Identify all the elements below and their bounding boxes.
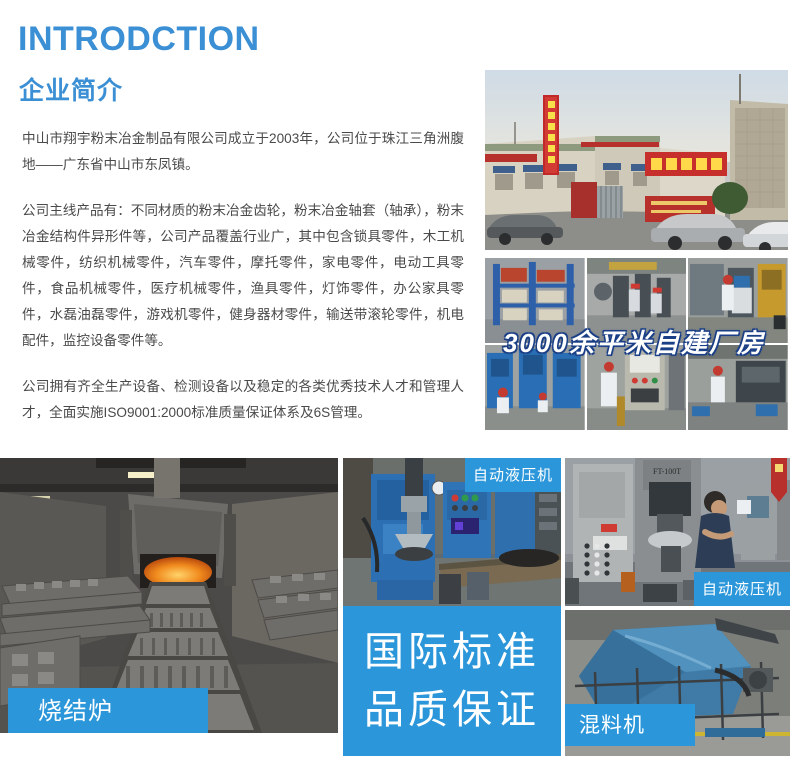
- photo-mixer: 混料机: [565, 610, 790, 756]
- sintering-furnace-tag: 烧结炉: [8, 688, 208, 733]
- page-title-chinese: 企业简介: [19, 75, 123, 107]
- workshop-collage-overlay-text: 3000余平米自建厂房: [503, 326, 765, 360]
- photo-hydraulic-press-left: 自动液压机: [343, 458, 561, 606]
- hydraulic-press-left-tag: 自动液压机: [465, 458, 561, 492]
- photo-hydraulic-press-right: FT-100T 自动液压机: [565, 458, 790, 606]
- quality-slogan-panel: 国际标准 品质保证: [343, 606, 561, 756]
- hydraulic-press-right-tag: 自动液压机: [694, 572, 790, 606]
- slogan-line-2: 品质保证: [364, 681, 540, 739]
- photo-sintering-furnace: 烧结炉: [0, 458, 338, 733]
- page-title-english: INTRODCTION: [18, 18, 260, 60]
- mixer-tag: 混料机: [565, 704, 695, 746]
- photo-workshop-collage: 3000余平米自建厂房: [485, 258, 788, 430]
- intro-paragraph-3: 公司拥有齐全生产设备、检测设备以及稳定的各类优秀技术人才和管理人才，全面实施IS…: [22, 374, 464, 426]
- intro-paragraph-2: 公司主线产品有：不同材质的粉末冶金齿轮，粉末冶金轴套（轴承），粉末冶金结构件异形…: [22, 198, 464, 354]
- page-root: INTRODCTION 企业简介 中山市翔宇粉末冶金制品有限公司成立于2003年…: [0, 0, 790, 759]
- intro-paragraph-1: 中山市翔宇粉末冶金制品有限公司成立于2003年，公司位于珠江三角洲腹地——广东省…: [22, 126, 464, 178]
- photo-factory-exterior: [485, 70, 788, 250]
- intro-copy: 中山市翔宇粉末冶金制品有限公司成立于2003年，公司位于珠江三角洲腹地——广东省…: [22, 126, 464, 426]
- factory-exterior-illustration: [485, 70, 788, 250]
- machine-brand-label: FT-100T: [653, 467, 681, 476]
- slogan-line-1: 国际标准: [364, 623, 540, 681]
